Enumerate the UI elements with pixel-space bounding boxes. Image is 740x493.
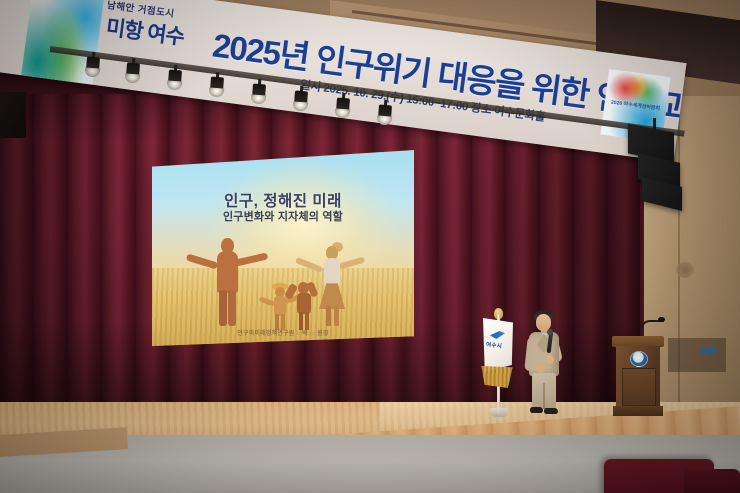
projection-screen: 인구, 정해진 미래 인구변화와 지자체의 역할 인구와미래정책연구원 ○ 박○… [152, 150, 414, 346]
podium-front-panel [622, 368, 656, 406]
stage-spotlight [125, 62, 141, 84]
silhouette-figure-adult-male [212, 238, 242, 324]
presenter-left-hand [536, 365, 545, 373]
projected-slide: 인구, 정해진 미래 인구변화와 지자체의 역할 인구와미래정책연구원 ○ 박○… [152, 150, 414, 346]
expo-logo-caption: 2026 여수세계섬박람회 [607, 99, 663, 113]
stage-spotlight [209, 76, 225, 98]
flag-gold-fringe [480, 366, 514, 388]
slide-credit-line: 인구와미래정책연구원 ○ 박○○ 원장 [152, 328, 414, 337]
presenter-figure [520, 307, 566, 417]
slide-subtitle: 인구변화와 지자체의 역할 [152, 208, 414, 224]
podium-base [613, 406, 663, 416]
silhouette-figure-child-arms-up [293, 280, 315, 330]
auditorium-scene-photo: 인구, 정해진 미래 인구변화와 지자체의 역할 인구와미래정책연구원 ○ 박○… [0, 0, 740, 493]
ceremonial-flag: 여수시 [478, 308, 520, 420]
silhouette-figure-adult-female [317, 246, 347, 326]
equipment-led-indicator [702, 348, 718, 353]
wall-vent-icon [676, 262, 694, 278]
wall-equipment-box [668, 338, 726, 372]
microphone-capsule [547, 329, 553, 335]
stage-spotlight [335, 97, 351, 119]
stage-spotlight [85, 56, 101, 78]
podium-microphone-capsule [658, 317, 665, 322]
presenter-shoe-left [530, 407, 543, 413]
presenter-leg-separation [543, 383, 545, 409]
audience-seat [684, 469, 740, 493]
city-seal-emblem-icon [630, 351, 648, 367]
stage-spotlight [293, 90, 309, 112]
flag-stand-base [490, 408, 508, 417]
presenter-right-hand [546, 355, 554, 364]
stage-spotlight [167, 69, 183, 91]
lectern-podium [612, 336, 664, 418]
stage-spotlight [251, 83, 267, 105]
presenter-shoe-right [544, 408, 558, 414]
stage-spotlight [377, 104, 393, 126]
